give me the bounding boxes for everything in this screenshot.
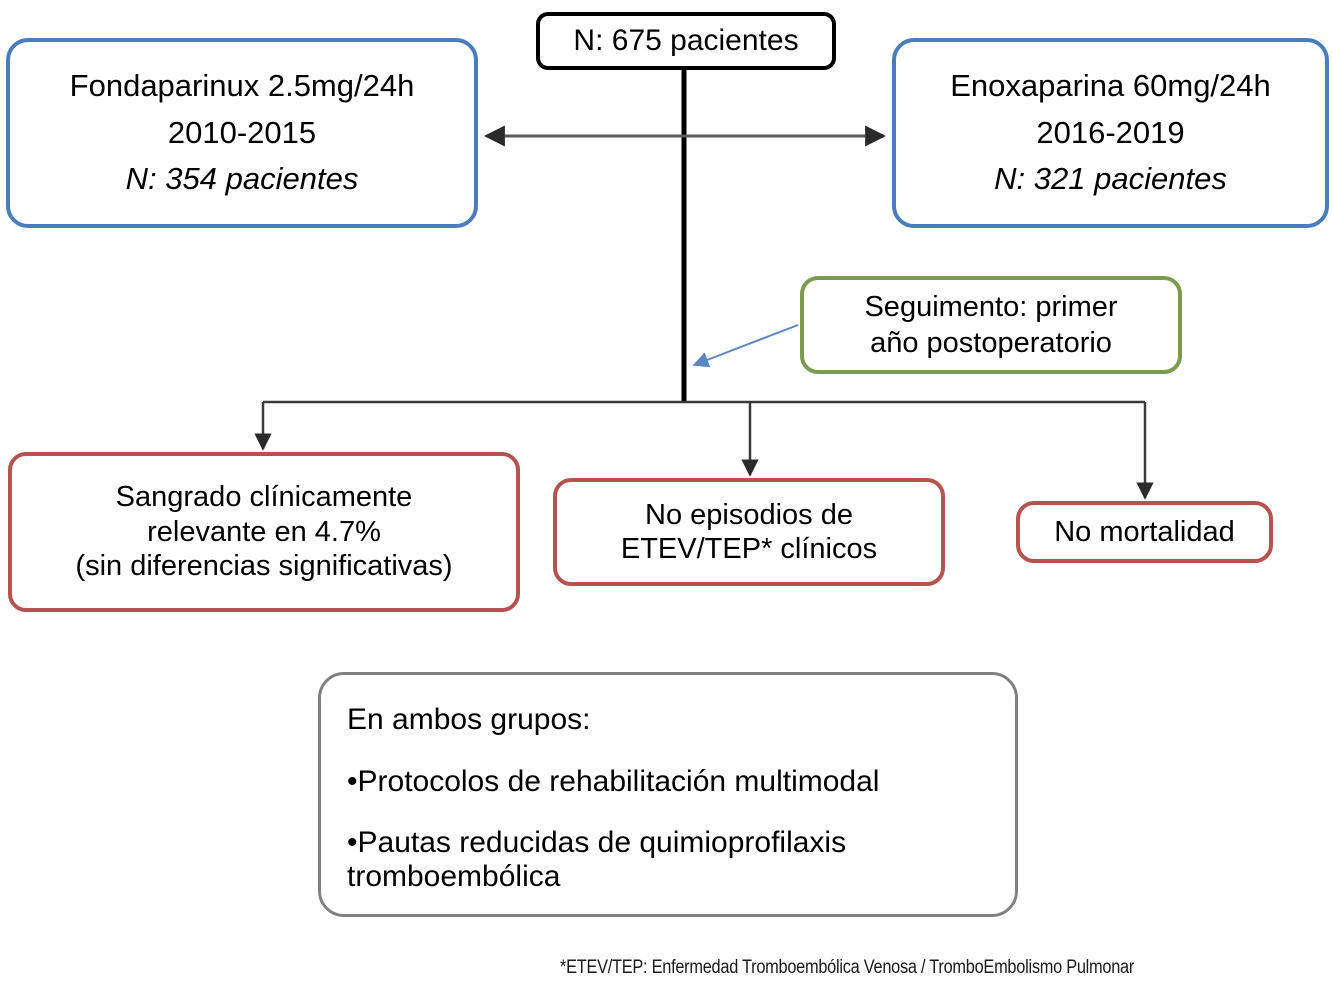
group-n-label: N: 321 pacientes xyxy=(994,163,1227,196)
followup-box[interactable]: Seguimento: primer año postoperatorio xyxy=(800,276,1182,374)
outcome-line-2: relevante en 4.7% xyxy=(147,517,381,547)
followup-line-2: año postoperatorio xyxy=(870,328,1112,358)
outcome-line-1: No mortalidad xyxy=(1054,517,1235,547)
notes-bullet-2: •Pautas reducidas de quimioprofilaxis tr… xyxy=(347,826,989,893)
outcome-line-1: No episodios de xyxy=(645,500,853,530)
outcome-line-1: Sangrado clínicamente xyxy=(116,482,413,512)
root-cohort-label: N: 675 pacientes xyxy=(573,25,798,57)
notes-bullet-1: •Protocolos de rehabilitación multimodal xyxy=(347,765,989,799)
group-n-label: N: 354 pacientes xyxy=(126,163,359,196)
flowchart-canvas: N: 675 pacientes Fondaparinux 2.5mg/24h … xyxy=(0,0,1333,995)
group-period-label: 2010-2015 xyxy=(168,117,316,150)
outcome-line-2: ETEV/TEP* clínicos xyxy=(621,534,877,564)
outcome-box-bleeding[interactable]: Sangrado clínicamente relevante en 4.7% … xyxy=(8,452,520,612)
group-box-fondaparinux[interactable]: Fondaparinux 2.5mg/24h 2010-2015 N: 354 … xyxy=(6,38,478,228)
group-box-enoxaparina[interactable]: Enoxaparina 60mg/24h 2016-2019 N: 321 pa… xyxy=(892,38,1329,228)
followup-line-1: Seguimento: primer xyxy=(864,292,1117,322)
outcome-box-vte[interactable]: No episodios de ETEV/TEP* clínicos xyxy=(553,478,945,586)
group-period-label: 2016-2019 xyxy=(1036,117,1184,150)
group-drug-label: Fondaparinux 2.5mg/24h xyxy=(70,70,415,103)
footnote-abbreviation: *ETEV/TEP: Enfermedad Tromboembólica Ven… xyxy=(560,957,1231,979)
outcome-line-3: (sin diferencias significativas) xyxy=(75,551,452,581)
shared-protocol-notes-box[interactable]: En ambos grupos: •Protocolos de rehabili… xyxy=(318,672,1018,917)
outcome-box-mortality[interactable]: No mortalidad xyxy=(1016,501,1273,563)
group-drug-label: Enoxaparina 60mg/24h xyxy=(950,70,1271,103)
notes-heading: En ambos grupos: xyxy=(347,703,989,737)
followup-pointer-arrow xyxy=(694,325,798,365)
root-cohort-box[interactable]: N: 675 pacientes xyxy=(536,12,836,70)
